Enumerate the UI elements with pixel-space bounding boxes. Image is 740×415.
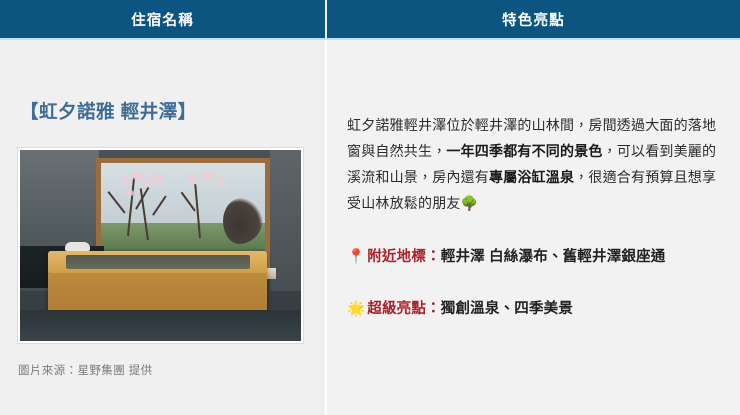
highlight-label: 超級亮點： — [367, 301, 441, 317]
hillside — [101, 223, 178, 250]
highlight-nearby-landmarks: 📍附近地標：輕井澤 白絲瀑布、舊輕井澤銀座通 — [347, 246, 730, 268]
glowing-star-icon: 🌟 — [347, 301, 365, 317]
description-text: 🌳 — [461, 195, 479, 211]
highlight-value: 輕井澤 白絲瀑布、舊輕井澤銀座通 — [441, 249, 666, 265]
description-emphasis: 一年四季都有不同的景色 — [446, 143, 602, 159]
table-cell-accommodation: 【虹夕諾雅 輕井澤】 — [0, 40, 327, 415]
water-spout — [65, 242, 90, 252]
round-pushpin-icon: 📍 — [347, 249, 365, 265]
hotel-name-title: 【虹夕諾雅 輕井澤】 — [20, 98, 197, 124]
photo-source-caption: 圖片來源：星野集團 提供 — [18, 362, 153, 378]
room-floor — [20, 310, 301, 341]
table-header-accommodation-name: 住宿名稱 — [0, 0, 327, 38]
hotel-comparison-table: 住宿名稱 特色亮點 【虹夕諾雅 輕井澤】 — [0, 0, 740, 415]
highlight-super-feature: 🌟超級亮點：獨創溫泉、四季美景 — [347, 298, 730, 320]
hotel-photo-frame — [18, 148, 303, 343]
table-cell-features: 虹夕諾雅輕井澤位於輕井澤的山林間，房間透過大面的落地窗與自然共生，一年四季都有不… — [327, 40, 740, 415]
table-body-row: 【虹夕諾雅 輕井澤】 — [0, 40, 740, 415]
cherry-blossom — [132, 172, 143, 180]
highlight-label: 附近地標： — [367, 249, 441, 265]
table-header-row: 住宿名稱 特色亮點 — [0, 0, 740, 40]
description-emphasis: 專屬浴缸溫泉 — [489, 169, 574, 185]
hotel-photo — [20, 150, 301, 341]
table-header-feature-highlights: 特色亮點 — [327, 0, 740, 38]
bathtub-water — [66, 255, 250, 269]
highlight-value: 獨創溫泉、四季美景 — [441, 301, 573, 317]
hotel-description: 虹夕諾雅輕井澤位於輕井澤的山林間，房間透過大面的落地窗與自然共生，一年四季都有不… — [347, 112, 724, 216]
